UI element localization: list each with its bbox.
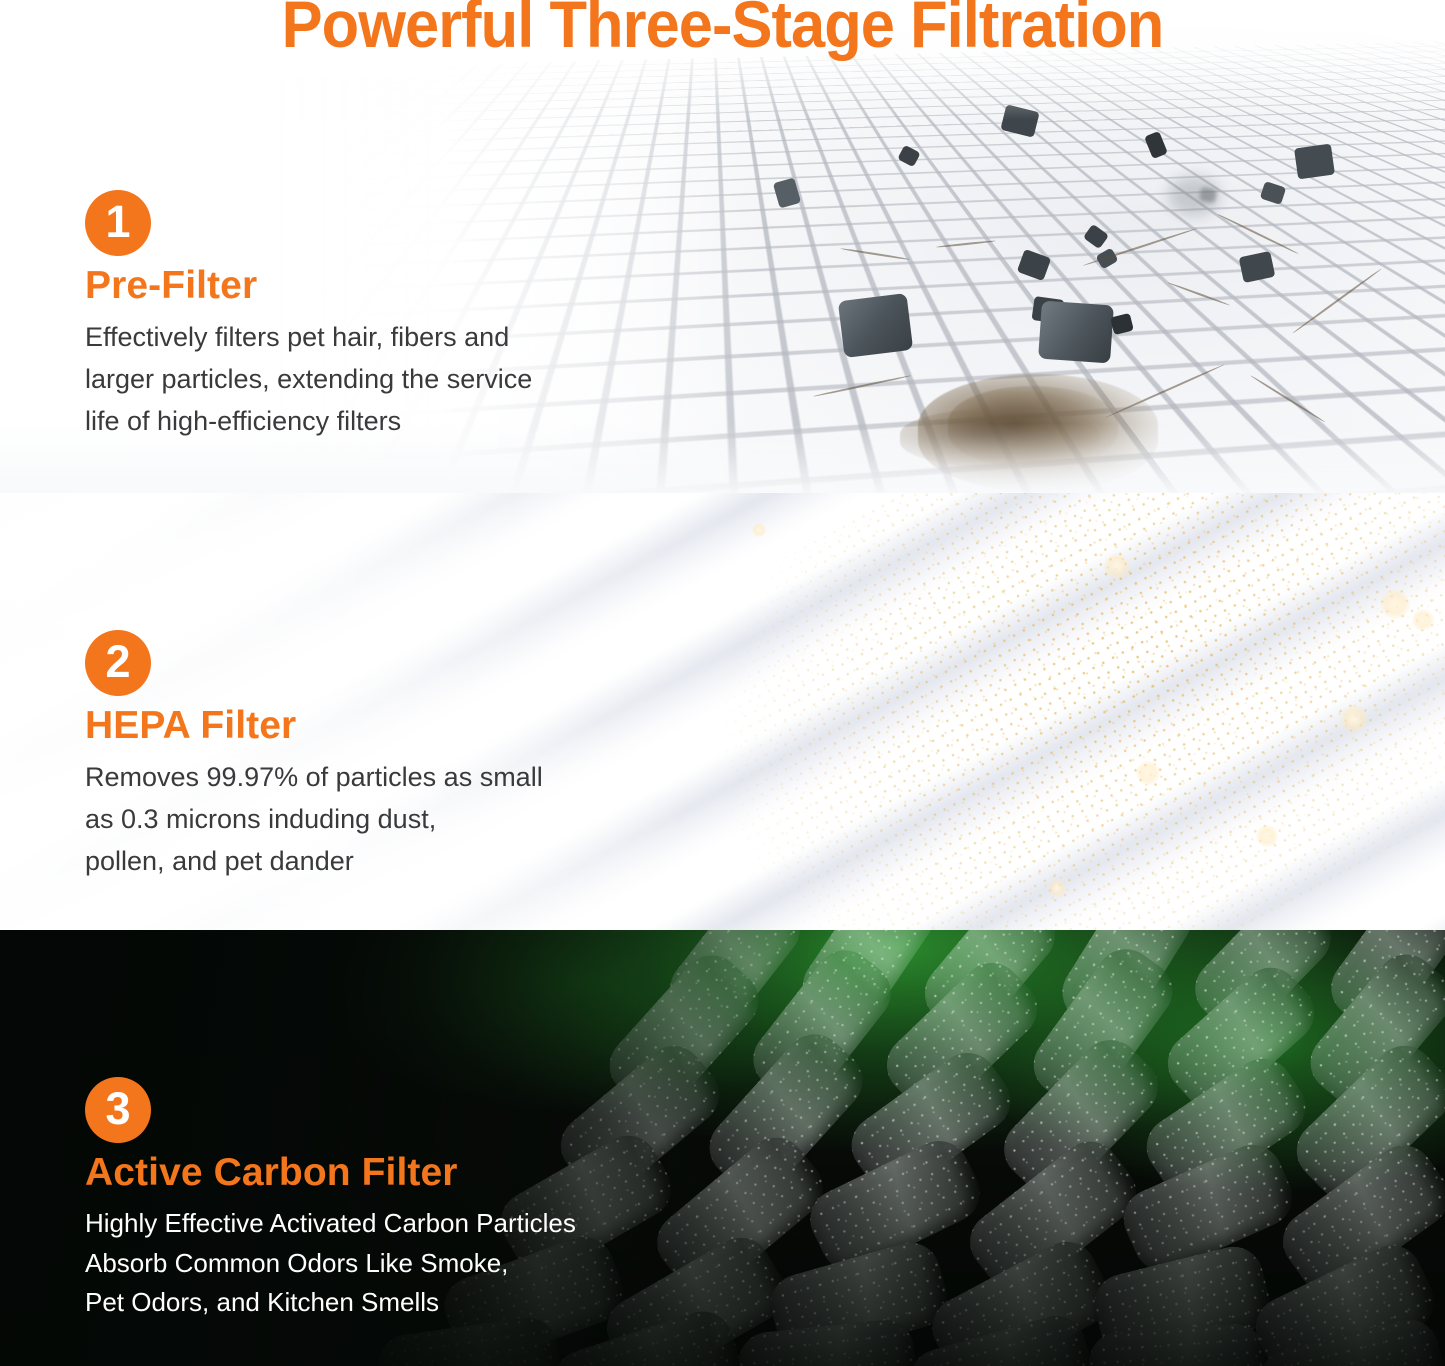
body-line: Pet Odors, and Kitchen Smells: [85, 1283, 576, 1323]
body-line: larger particles, extending the service: [85, 359, 532, 401]
hepa-filter-body: Removes 99.97% of particles as small as …: [85, 757, 543, 883]
step-badge-1: 1: [85, 190, 151, 256]
section-active-carbon-filter: 3 Active Carbon Filter Highly Effective …: [0, 930, 1445, 1366]
pre-filter-body: Effectively filters pet hair, fibers and…: [85, 317, 532, 443]
body-line: as 0.3 microns induding dust,: [85, 799, 543, 841]
pre-filter-heading: Pre-Filter: [85, 265, 532, 306]
body-line: Absorb Common Odors Like Smoke,: [85, 1244, 576, 1284]
step-number: 2: [105, 639, 130, 684]
pre-filter-text-block: 1 Pre-Filter Effectively filters pet hai…: [85, 190, 532, 443]
body-line: life of high-efficiency filters: [85, 401, 532, 443]
debris-chunk-large: [1038, 301, 1114, 364]
hepa-filter-text-block: 2 HEPA Filter Removes 99.97% of particle…: [85, 630, 543, 883]
body-line: pollen, and pet dander: [85, 841, 543, 883]
body-line: Highly Effective Activated Carbon Partic…: [85, 1204, 576, 1244]
step-number: 3: [105, 1086, 130, 1131]
debris-chunk-large: [838, 293, 913, 358]
section-hepa-filter: 2 HEPA Filter Removes 99.97% of particle…: [0, 493, 1445, 930]
section-pre-filter: 1 Pre-Filter Effectively filters pet hai…: [0, 0, 1445, 493]
debris-chunk: [1294, 144, 1335, 180]
step-number: 1: [105, 199, 130, 244]
step-badge-3: 3: [85, 1077, 151, 1143]
mesh-top-fade: [0, 0, 1445, 120]
step-badge-2: 2: [85, 630, 151, 696]
body-line: Removes 99.97% of particles as small: [85, 757, 543, 799]
carbon-filter-text-block: 3 Active Carbon Filter Highly Effective …: [85, 1077, 576, 1323]
debris-chunk: [1168, 176, 1220, 216]
body-line: Effectively filters pet hair, fibers and: [85, 317, 532, 359]
carbon-filter-heading: Active Carbon Filter: [85, 1152, 576, 1193]
hepa-filter-heading: HEPA Filter: [85, 705, 543, 746]
carbon-filter-body: Highly Effective Activated Carbon Partic…: [85, 1204, 576, 1323]
three-stage-filtration-infographic: 1 Pre-Filter Effectively filters pet hai…: [0, 0, 1445, 1366]
